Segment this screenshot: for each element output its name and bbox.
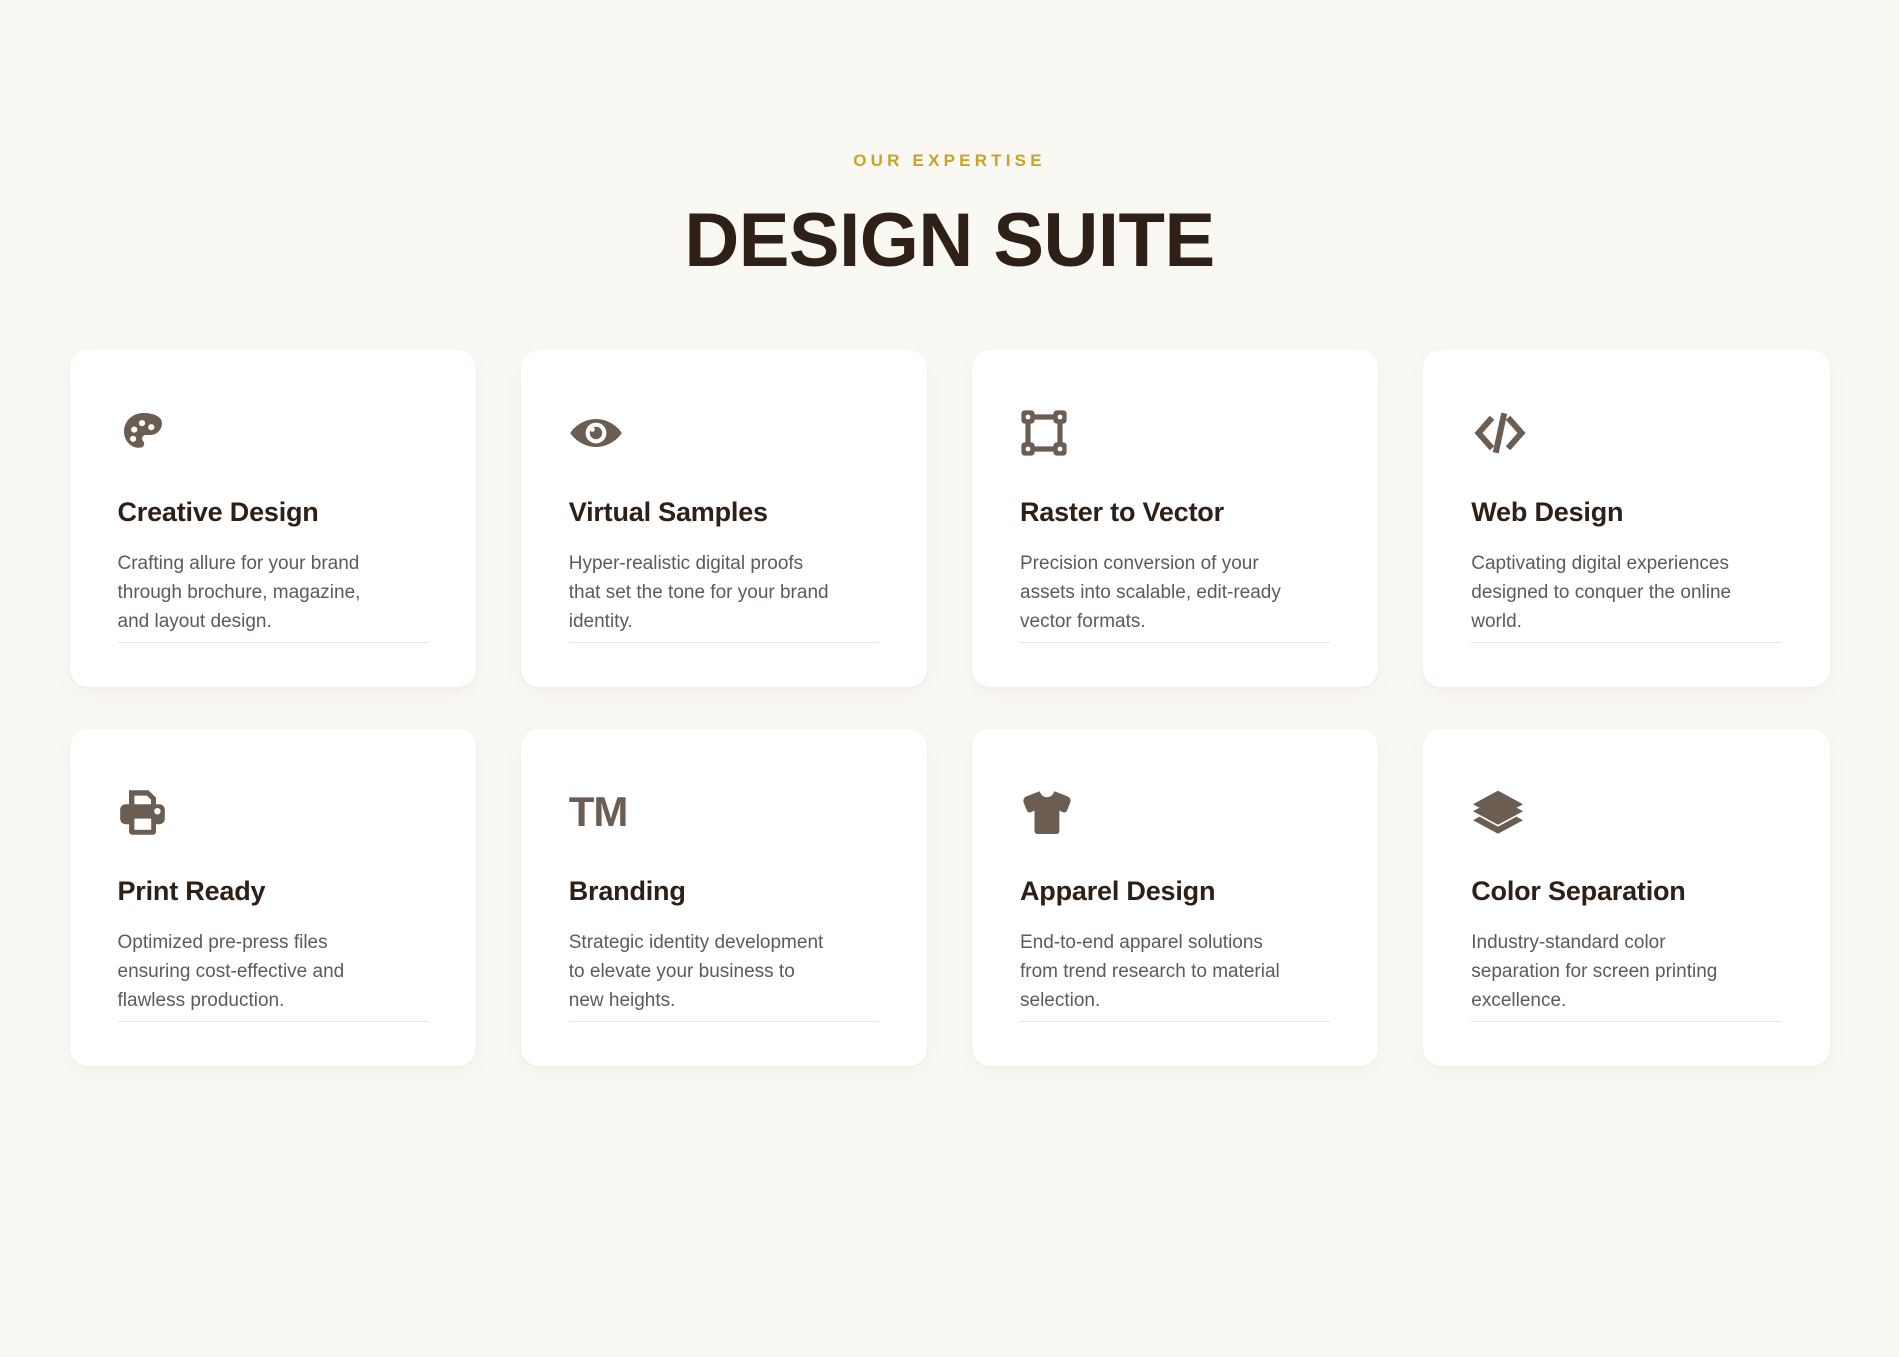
trademark-tm-icon: TM (569, 781, 879, 843)
service-card-description: Strategic identity development to elevat… (569, 929, 831, 1016)
service-card-description: End-to-end apparel solutions from trend … (1020, 929, 1282, 1016)
service-card-title: Print Ready (118, 875, 428, 907)
service-card-description: Captivating digital experiences designed… (1471, 550, 1733, 637)
service-card-virtual-samples[interactable]: Virtual Samples Hyper-realistic digital … (521, 350, 927, 687)
code-brackets-icon (1471, 402, 1781, 464)
service-card-apparel-design[interactable]: Apparel Design End-to-end apparel soluti… (972, 729, 1378, 1066)
eye-icon (569, 402, 879, 464)
service-card-description: Precision conversion of your assets into… (1020, 550, 1282, 637)
service-card-title: Color Separation (1471, 875, 1781, 907)
service-card-title: Virtual Samples (569, 496, 879, 528)
service-card-title: Branding (569, 875, 879, 907)
card-divider (1020, 1021, 1330, 1022)
service-card-web-design[interactable]: Web Design Captivating digital experienc… (1423, 350, 1829, 687)
service-card-title: Raster to Vector (1020, 496, 1330, 528)
card-divider (1020, 642, 1330, 643)
service-card-title: Web Design (1471, 496, 1781, 528)
service-card-description: Crafting allure for your brand through b… (118, 550, 380, 637)
trademark-tm-label: TM (569, 791, 628, 833)
layers-icon (1471, 781, 1781, 843)
design-suite-section: OUR EXPERTISE DESIGN SUITE Creative Desi… (0, 0, 1899, 1357)
service-card-branding[interactable]: TM Branding Strategic identity developme… (521, 729, 927, 1066)
vector-bounding-box-icon (1020, 402, 1330, 464)
card-divider (1471, 642, 1781, 643)
card-divider (569, 1021, 879, 1022)
card-divider (1471, 1021, 1781, 1022)
service-card-color-separation[interactable]: Color Separation Industry-standard color… (1423, 729, 1829, 1066)
service-card-description: Hyper-realistic digital proofs that set … (569, 550, 831, 637)
service-card-raster-to-vector[interactable]: Raster to Vector Precision conversion of… (972, 350, 1378, 687)
tshirt-icon (1020, 781, 1330, 843)
service-card-description: Optimized pre-press files ensuring cost-… (118, 929, 380, 1016)
card-divider (118, 1021, 428, 1022)
card-divider (118, 642, 428, 643)
section-header: OUR EXPERTISE DESIGN SUITE (0, 0, 1899, 282)
service-card-title: Creative Design (118, 496, 428, 528)
palette-icon (118, 402, 428, 464)
printer-icon (118, 781, 428, 843)
page-title: DESIGN SUITE (0, 201, 1899, 282)
section-eyebrow: OUR EXPERTISE (0, 152, 1899, 169)
service-card-title: Apparel Design (1020, 875, 1330, 907)
services-card-grid: Creative Design Crafting allure for your… (70, 282, 1830, 1066)
service-card-creative-design[interactable]: Creative Design Crafting allure for your… (70, 350, 476, 687)
card-divider (569, 642, 879, 643)
service-card-print-ready[interactable]: Print Ready Optimized pre-press files en… (70, 729, 476, 1066)
service-card-description: Industry-standard color separation for s… (1471, 929, 1733, 1016)
